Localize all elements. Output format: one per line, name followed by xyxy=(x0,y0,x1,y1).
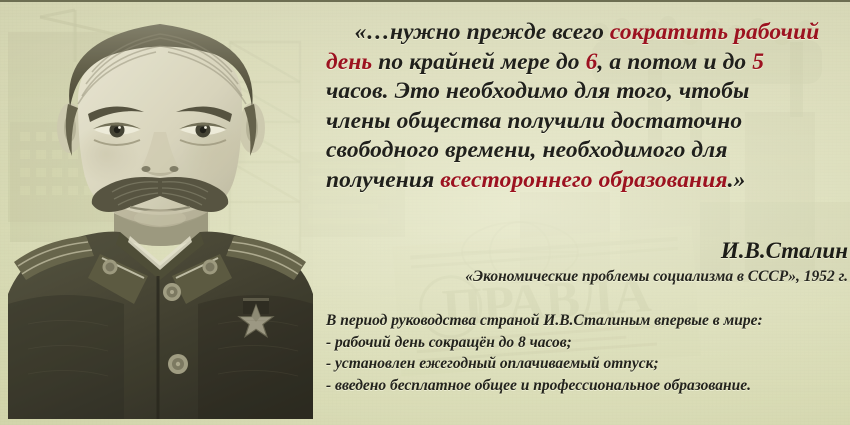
quote-run-5-1: свободного времени, необходимого для xyxy=(326,137,728,163)
quote-line-4: члены общества получили достаточно xyxy=(324,107,850,137)
quote-run-2-4: , а потом и до xyxy=(597,49,752,75)
text-column: «…нужно прежде всего сократить рабочий д… xyxy=(320,2,850,425)
quote-run-6-3: .» xyxy=(728,167,746,193)
quote-line-3: часов. Это необходимо для того, чтобы xyxy=(324,77,850,107)
quote-run-3-1: часов. Это необходимо для того, чтобы xyxy=(326,78,749,104)
quote-run-6-1: получения xyxy=(326,167,440,193)
stalin-portrait xyxy=(8,4,313,419)
quote-run-2-2: по крайней мере до xyxy=(372,49,585,75)
quote-source: «Экономические проблемы социализма в ССС… xyxy=(465,268,848,286)
quote-run-2-5: 5 xyxy=(752,49,764,75)
quote-block: «…нужно прежде всего сократить рабочий д… xyxy=(324,18,850,195)
facts-item-1: - рабочий день сокращён до 8 часов; xyxy=(326,332,846,354)
quote-line-1: «…нужно прежде всего сократить рабочий xyxy=(324,18,850,48)
quote-run-1-1: «…нужно прежде всего xyxy=(355,19,610,45)
quote-author: И.В.Сталин xyxy=(721,238,848,264)
poster-root: ПРАВДА xyxy=(0,0,850,425)
quote-line-6: получения всестороннего образования.» xyxy=(324,166,850,196)
quote-run-4-1: члены общества получили достаточно xyxy=(326,108,742,134)
quote-run-6-2: всестороннего образования xyxy=(440,167,727,193)
facts-item-2: - установлен ежегодный оплачиваемый отпу… xyxy=(326,353,846,375)
quote-run-2-1: день xyxy=(326,49,372,75)
quote-line-5: свободного времени, необходимого для xyxy=(324,136,850,166)
facts-item-3: - введено бесплатное общее и профессиона… xyxy=(326,375,846,397)
quote-line-2: день по крайней мере до 6, а потом и до … xyxy=(324,48,850,78)
facts-heading: В период руководства страной И.В.Сталины… xyxy=(326,310,846,332)
quote-run-2-3: 6 xyxy=(586,49,598,75)
quote-run-1-2: сократить рабочий xyxy=(610,19,819,45)
facts-block: В период руководства страной И.В.Сталины… xyxy=(326,310,846,396)
